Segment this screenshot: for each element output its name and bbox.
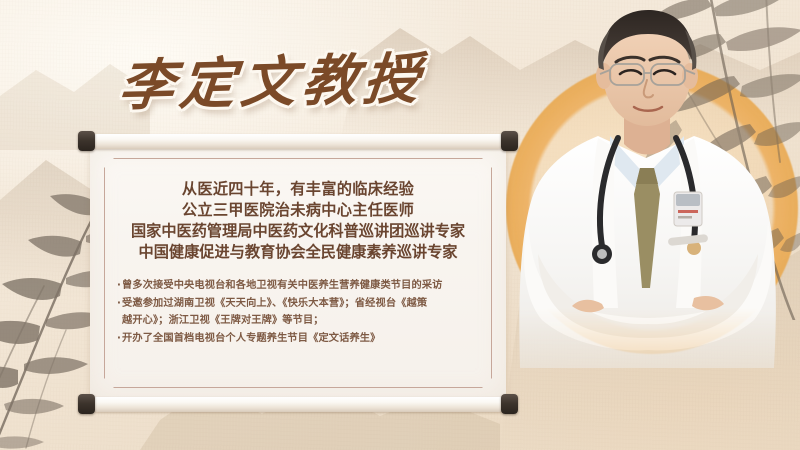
credential-bullets: ·曾多次接受中央电视台和各地卫视有关中医养生营养健康类节目的采访 ·受邀参加过湖… — [108, 277, 488, 347]
bullet-item: ·曾多次接受中央电视台和各地卫视有关中医养生营养健康类节目的采访 — [117, 277, 479, 295]
scroll-content: 从医近四十年，有丰富的临床经验 公立三甲医院治未病中心主任医师 国家中医药管理局… — [108, 163, 488, 385]
doctor-portrait-icon — [498, 8, 798, 450]
headline-line: 中国健康促进与教育协会全民健康素养巡讲专家 — [108, 242, 488, 263]
bullet-item: ·受邀参加过湖南卫视《天天向上》、《快乐大本营》；省经视台《越策 越开心》；浙江… — [117, 295, 479, 330]
page-title: 李定文教授 — [120, 36, 520, 118]
poster-canvas: 李定文教授 从医近四十年，有丰富的临床经验 公立三甲医院治未病中心主任医师 国家… — [0, 0, 800, 450]
bullet-text: 开办了全国首档电视台个人专题养生节目《定文话养生》 — [122, 333, 380, 344]
scroll-rod-cap-icon — [501, 394, 518, 414]
scroll-panel: 从医近四十年，有丰富的临床经验 公立三甲医院治未病中心主任医师 国家中医药管理局… — [84, 134, 512, 412]
bullet-text-continued: 越开心》；浙江卫视《王牌对王牌》等节目； — [117, 312, 479, 330]
scroll-rod-cap-icon — [78, 394, 95, 414]
bullet-marker: · — [117, 280, 121, 291]
bullet-text: 受邀参加过湖南卫视《天天向上》、《快乐大本营》；省经视台《越策 — [122, 298, 427, 309]
headline-line: 国家中医药管理局中医药文化科普巡讲团巡讲专家 — [108, 221, 488, 242]
bullet-text: 曾多次接受中央电视台和各地卫视有关中医养生营养健康类节目的采访 — [122, 280, 442, 291]
credential-headlines: 从医近四十年，有丰富的临床经验 公立三甲医院治未病中心主任医师 国家中医药管理局… — [108, 179, 488, 263]
headline-line: 从医近四十年，有丰富的临床经验 — [108, 179, 488, 200]
bullet-marker: · — [117, 298, 121, 309]
bullet-marker: · — [117, 333, 121, 344]
bullet-item: ·开办了全国首档电视台个人专题养生节目《定文话养生》 — [117, 330, 479, 348]
scroll-rod-cap-icon — [501, 131, 518, 151]
scroll-rod-top-icon — [90, 134, 506, 149]
scroll-rod-bottom-icon — [90, 397, 506, 412]
page-title-text: 李定文教授 — [116, 31, 525, 121]
scroll-rod-cap-icon — [78, 131, 95, 151]
scroll-sheet: 从医近四十年，有丰富的临床经验 公立三甲医院治未病中心主任医师 国家中医药管理局… — [90, 147, 506, 399]
headline-line: 公立三甲医院治未病中心主任医师 — [108, 200, 488, 221]
